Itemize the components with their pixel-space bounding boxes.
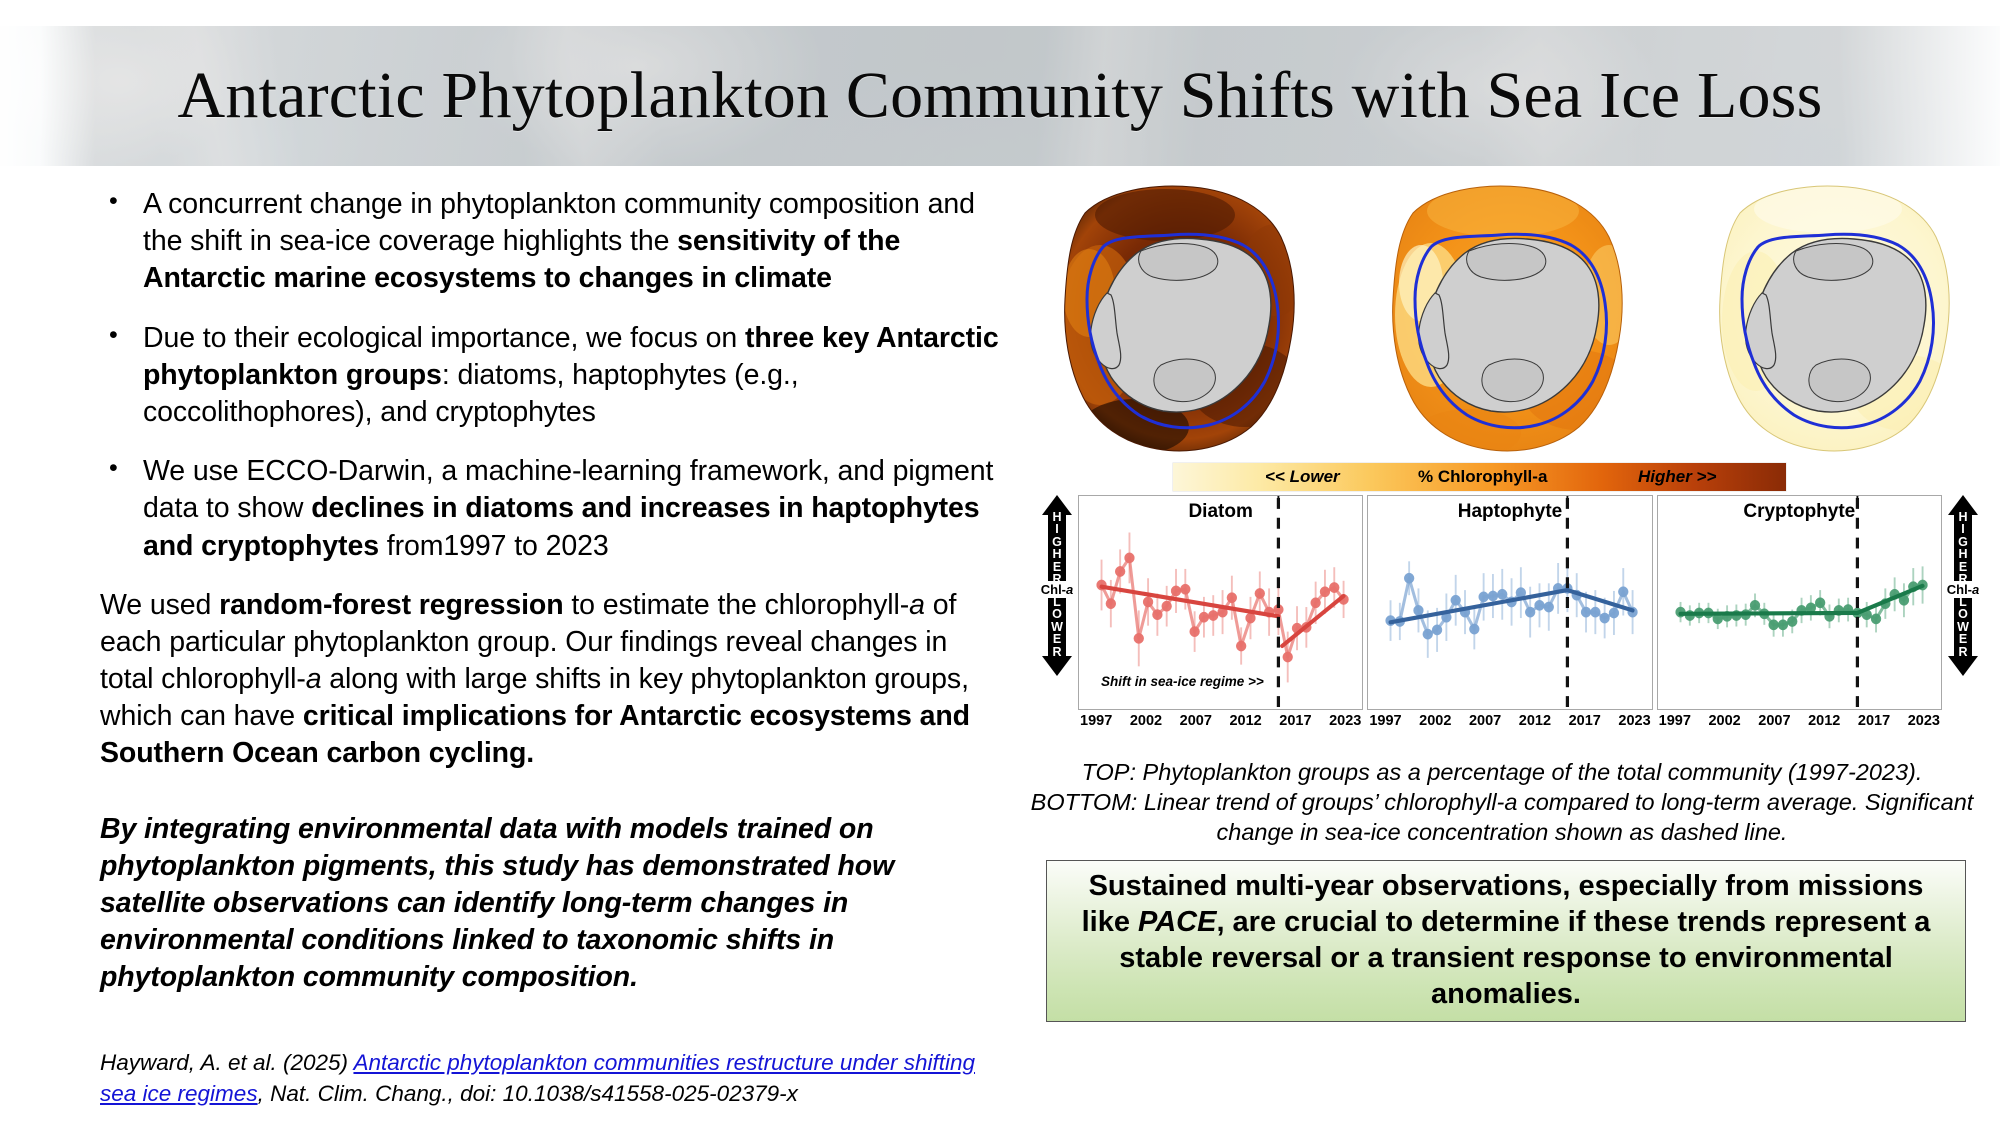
cryptophyte-chart-title: Cryptophyte [1658, 501, 1941, 523]
colorbar-higher-label: Higher >> [1638, 467, 1716, 487]
x-tick-label: 2002 [1130, 713, 1162, 737]
x-axis-tick-rows: 199720022007201220172023 199720022007201… [1078, 713, 1942, 737]
citation-prefix: Hayward, A. et al. (2025) [100, 1050, 353, 1075]
citation: Hayward, A. et al. (2025) Antarctic phyt… [100, 1047, 1000, 1109]
bullet-list: A concurrent change in phytoplankton com… [100, 186, 1000, 565]
bullet-item: Due to their ecological importance, we f… [100, 320, 1000, 432]
x-tick-label: 2012 [1808, 713, 1840, 737]
x-tick-label: 2007 [1469, 713, 1501, 737]
trend-charts: HIGHER Chl-a LOWER Diatom Shift in sea-i… [1040, 495, 1980, 740]
x-tick-label: 2017 [1279, 713, 1311, 737]
axis-lower-label-right: LOWER [1954, 598, 1972, 656]
figure-caption: TOP: Phytoplankton groups as a percentag… [1028, 757, 1976, 847]
axis-higher-label-left: HIGHER [1048, 515, 1066, 581]
x-tick-label: 2023 [1618, 713, 1650, 737]
diatom-chart-title: Diatom [1079, 501, 1362, 523]
x-tick-label: 2023 [1329, 713, 1361, 737]
x-tick-label: 2017 [1569, 713, 1601, 737]
colorbar-title: % Chlorophyll-a [1418, 467, 1547, 487]
takeaway-text: Sustained multi-year observations, espec… [1073, 869, 1939, 1013]
x-tick-label: 2012 [1519, 713, 1551, 737]
y-axis-arrow-left: HIGHER Chl-a LOWER [1040, 495, 1074, 710]
takeaway-box: Sustained multi-year observations, espec… [1046, 860, 1966, 1022]
haptophyte-map [1373, 175, 1648, 460]
arrow-down-icon [1948, 656, 1978, 676]
x-tick-label: 2023 [1908, 713, 1940, 737]
emphasis-paragraph: By integrating environmental data with m… [100, 811, 1000, 997]
x-tick-label: 2007 [1180, 713, 1212, 737]
x-tick-label: 1997 [1369, 713, 1401, 737]
left-content-column: A concurrent change in phytoplankton com… [100, 186, 1000, 1109]
bullet-item: A concurrent change in phytoplankton com… [100, 186, 1000, 298]
haptophyte-chart-panel: Haptophyte [1367, 495, 1652, 710]
diatom-chart-panel: Diatom Shift in sea-ice regime >> [1078, 495, 1363, 710]
x-tick-label: 2007 [1758, 713, 1790, 737]
shift-in-sea-ice-regime-label: Shift in sea-ice regime >> [1101, 674, 1264, 689]
x-tick-label: 2017 [1858, 713, 1890, 737]
chlorophyll-colorbar: << Lower % Chlorophyll-a Higher >> [1173, 463, 1786, 491]
colorbar-lower-label: << Lower [1265, 467, 1340, 487]
x-tick-label: 1997 [1080, 713, 1112, 737]
axis-higher-label-right: HIGHER [1954, 515, 1972, 581]
haptophyte-xticks: 199720022007201220172023 [1367, 713, 1652, 737]
diatom-xticks: 199720022007201220172023 [1078, 713, 1363, 737]
chart-panels: Diatom Shift in sea-ice regime >> Haptop… [1078, 495, 1942, 710]
page-title: Antarctic Phytoplankton Community Shifts… [0, 26, 2000, 166]
citation-suffix: , Nat. Clim. Chang., doi: 10.1038/s41558… [258, 1081, 798, 1106]
antarctic-maps-row [1045, 175, 1975, 460]
header-banner: Antarctic Phytoplankton Community Shifts… [0, 26, 2000, 166]
haptophyte-chart-title: Haptophyte [1368, 501, 1651, 523]
x-tick-label: 2012 [1229, 713, 1261, 737]
cryptophyte-xticks: 199720022007201220172023 [1657, 713, 1942, 737]
arrow-down-icon [1042, 656, 1072, 676]
axis-lower-label-left: LOWER [1048, 598, 1066, 656]
x-tick-label: 2002 [1708, 713, 1740, 737]
diatom-map [1045, 175, 1320, 460]
methods-paragraph: We used random-forest regression to esti… [100, 587, 1000, 773]
y-axis-arrow-right: HIGHER Chl-a LOWER [1946, 495, 1980, 710]
bullet-item: We use ECCO-Darwin, a machine-learning f… [100, 453, 1000, 565]
x-tick-label: 1997 [1659, 713, 1691, 737]
cryptophyte-map [1700, 175, 1975, 460]
x-tick-label: 2002 [1419, 713, 1451, 737]
cryptophyte-chart-panel: Cryptophyte [1657, 495, 1942, 710]
